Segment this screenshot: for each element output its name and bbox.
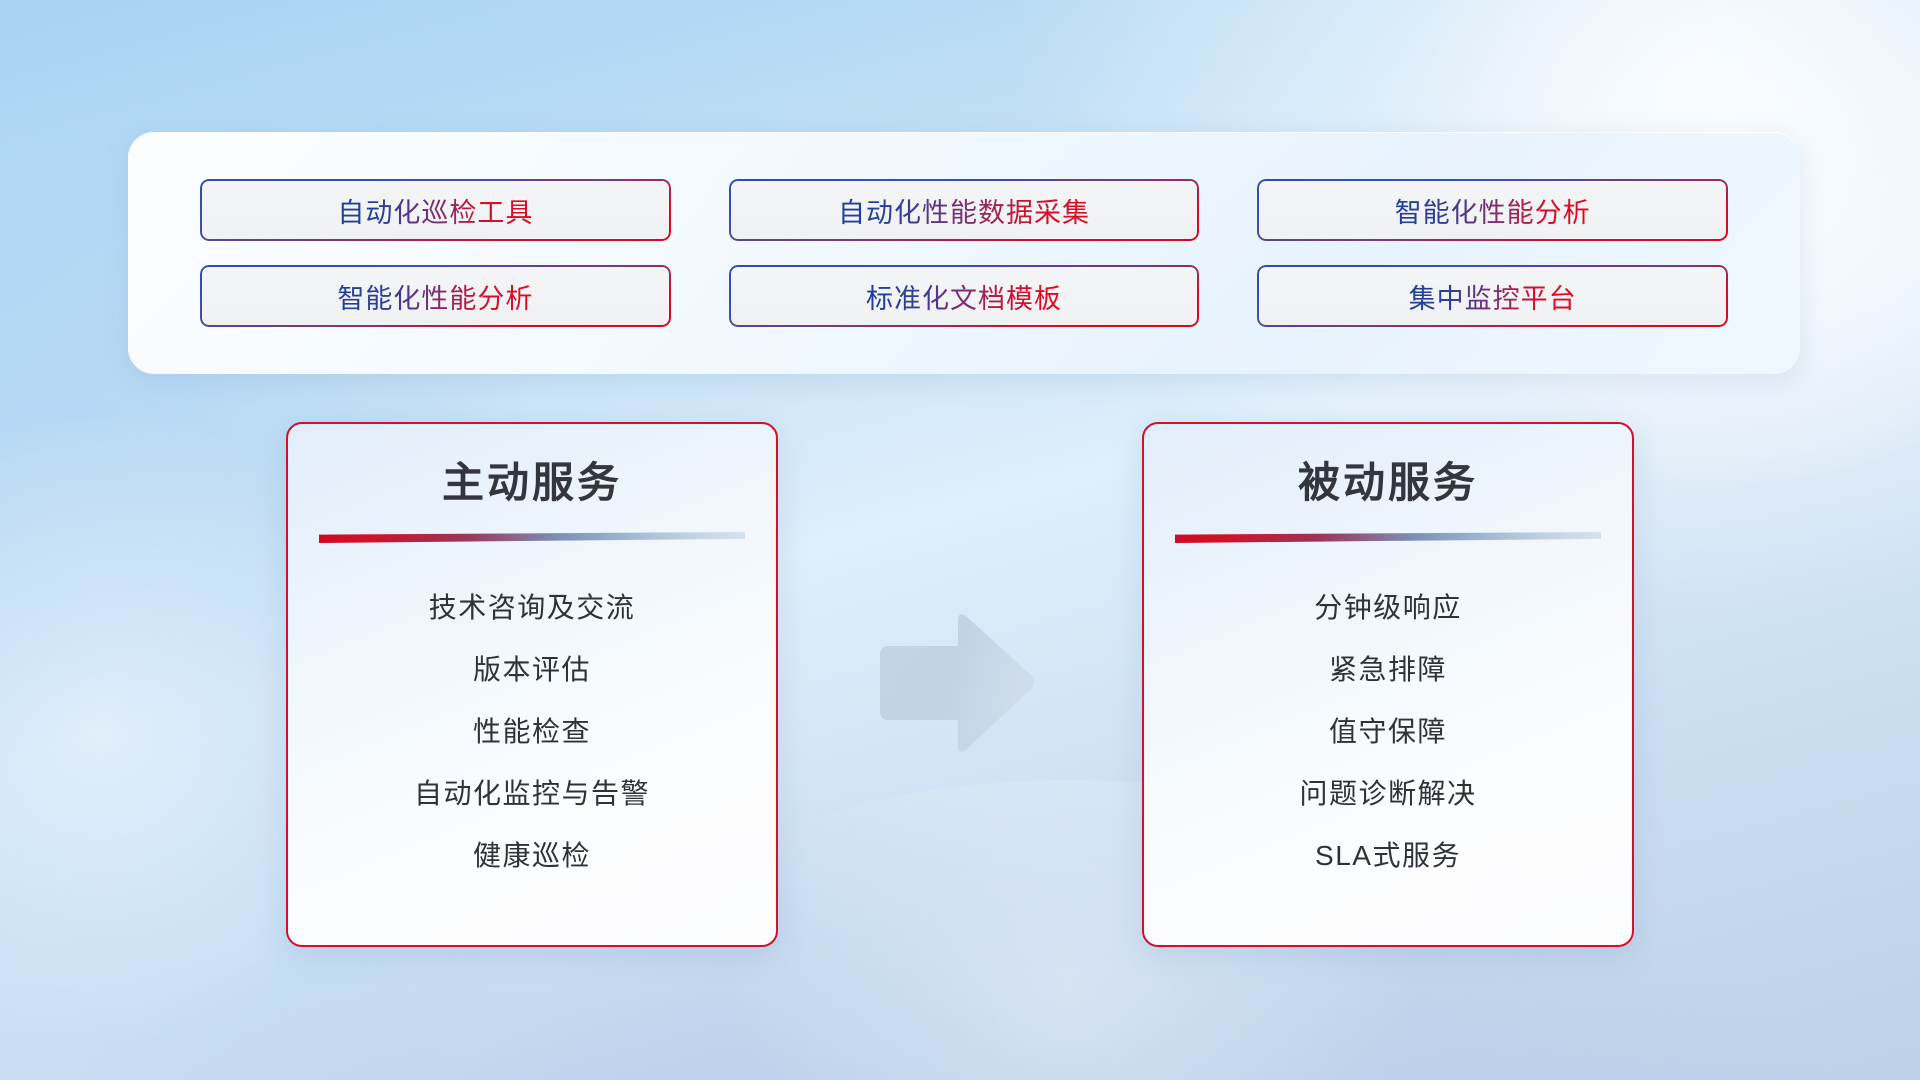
card-divider-gradient-bar xyxy=(1175,532,1601,543)
capability-tag-row-2: 智能化性能分析 标准化文档模板 集中监控平台 xyxy=(200,265,1728,327)
list-item: 版本评估 xyxy=(473,639,591,701)
card-divider-gradient-bar xyxy=(319,532,745,543)
capability-tag-label: 标准化文档模板 xyxy=(866,277,1062,316)
capability-tag-intelligent-performance-analysis[interactable]: 智能化性能分析 xyxy=(1257,179,1728,241)
list-item: 自动化监控与告警 xyxy=(414,763,650,825)
capability-tag-automated-performance-data-collection[interactable]: 自动化性能数据采集 xyxy=(729,179,1200,241)
list-item: 技术咨询及交流 xyxy=(429,577,636,639)
capability-tag-standardized-document-template[interactable]: 标准化文档模板 xyxy=(729,265,1200,327)
card-divider xyxy=(319,532,745,543)
list-item: 性能检查 xyxy=(473,701,591,763)
list-item: SLA式服务 xyxy=(1315,825,1461,887)
arrow-right-icon xyxy=(870,608,1038,760)
capability-tag-label: 自动化性能数据采集 xyxy=(838,191,1090,230)
card-title: 被动服务 xyxy=(1298,462,1478,504)
capability-tag-intelligent-performance-analysis-2[interactable]: 智能化性能分析 xyxy=(200,265,671,327)
capability-tag-label: 集中监控平台 xyxy=(1409,277,1577,316)
capability-tag-row-1: 自动化巡检工具 自动化性能数据采集 智能化性能分析 xyxy=(200,179,1728,241)
service-item-list: 技术咨询及交流 版本评估 性能检查 自动化监控与告警 健康巡检 xyxy=(288,577,776,887)
capability-tag-centralized-monitoring-platform[interactable]: 集中监控平台 xyxy=(1257,265,1728,327)
capability-tag-label: 智能化性能分析 xyxy=(337,277,533,316)
list-item: 值守保障 xyxy=(1329,701,1447,763)
capability-tag-label: 智能化性能分析 xyxy=(1395,191,1591,230)
capability-tag-label: 自动化巡检工具 xyxy=(337,191,533,230)
capability-tag-automated-inspection-tool[interactable]: 自动化巡检工具 xyxy=(200,179,671,241)
card-divider xyxy=(1175,532,1601,543)
list-item: 紧急排障 xyxy=(1329,639,1447,701)
card-title: 主动服务 xyxy=(442,462,622,504)
list-item: 问题诊断解决 xyxy=(1299,763,1476,825)
service-item-list: 分钟级响应 紧急排障 值守保障 问题诊断解决 SLA式服务 xyxy=(1144,577,1632,887)
service-card-active: 主动服务 技术咨询及交流 版本评估 性能检查 自动化监控与告警 健康巡检 xyxy=(286,422,778,947)
service-card-passive: 被动服务 分钟级响应 紧急排障 值守保障 问题诊断解决 SLA式服务 xyxy=(1142,422,1634,947)
slide-canvas: 自动化巡检工具 自动化性能数据采集 智能化性能分析 智能化性能分析 标准化文档模… xyxy=(0,0,1920,1080)
list-item: 健康巡检 xyxy=(473,825,591,887)
capability-tags-panel: 自动化巡检工具 自动化性能数据采集 智能化性能分析 智能化性能分析 标准化文档模… xyxy=(128,132,1800,374)
list-item: 分钟级响应 xyxy=(1314,577,1462,639)
